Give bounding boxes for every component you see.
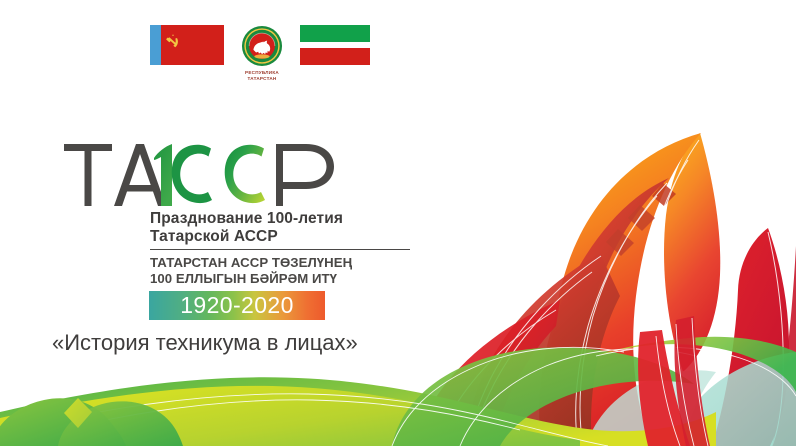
- logo-letter-T: [64, 144, 112, 206]
- logo-letter-S1: [172, 145, 212, 203]
- logo-letter-S2: [225, 145, 265, 203]
- red-ribbon-strands: [638, 316, 710, 446]
- flags-row: РЕСПУБЛИКА ТАТАРСТАН: [150, 25, 370, 81]
- title-tt-line2: 100 ЕЛЛЫГЫН БӘЙРӘМ ИТҮ: [150, 271, 420, 287]
- emblem-caption: РЕСПУБЛИКА ТАТАРСТАН: [245, 70, 279, 81]
- title-tt-line1: ТАТАРСТАН АССР ТӨЗЕЛҮНЕҢ: [150, 255, 420, 271]
- flag-tassr-icon: [150, 25, 224, 65]
- tatarstan-coat-of-arms-icon: [241, 25, 283, 67]
- flag-tatarstan-icon: [300, 25, 370, 65]
- flag-cell-emblem: РЕСПУБЛИКА ТАТАРСТАН: [224, 25, 300, 81]
- hammer-and-sickle-icon: [163, 33, 183, 55]
- flag-cell-tassr: [150, 25, 224, 65]
- leaf-group-bottom-left: [0, 398, 183, 446]
- tulip-petal-group: [412, 133, 796, 446]
- slide-caption: «История техникума в лицах»: [52, 330, 358, 356]
- title-divider: [150, 249, 410, 250]
- flag-cell-tatarstan: [300, 25, 370, 65]
- title-ru-line2: Татарской АССР: [150, 228, 420, 246]
- title-block: Празднование 100-летия Татарской АССР ТА…: [150, 210, 420, 287]
- logo-letter-R: [276, 144, 334, 206]
- slide-canvas: РЕСПУБЛИКА ТАТАРСТАН: [0, 0, 796, 446]
- tassr-wordmark-logo: [62, 128, 362, 210]
- title-ru-line1: Празднование 100-летия: [150, 210, 420, 228]
- years-banner: 1920-2020: [149, 291, 325, 320]
- years-label: 1920-2020: [180, 294, 294, 317]
